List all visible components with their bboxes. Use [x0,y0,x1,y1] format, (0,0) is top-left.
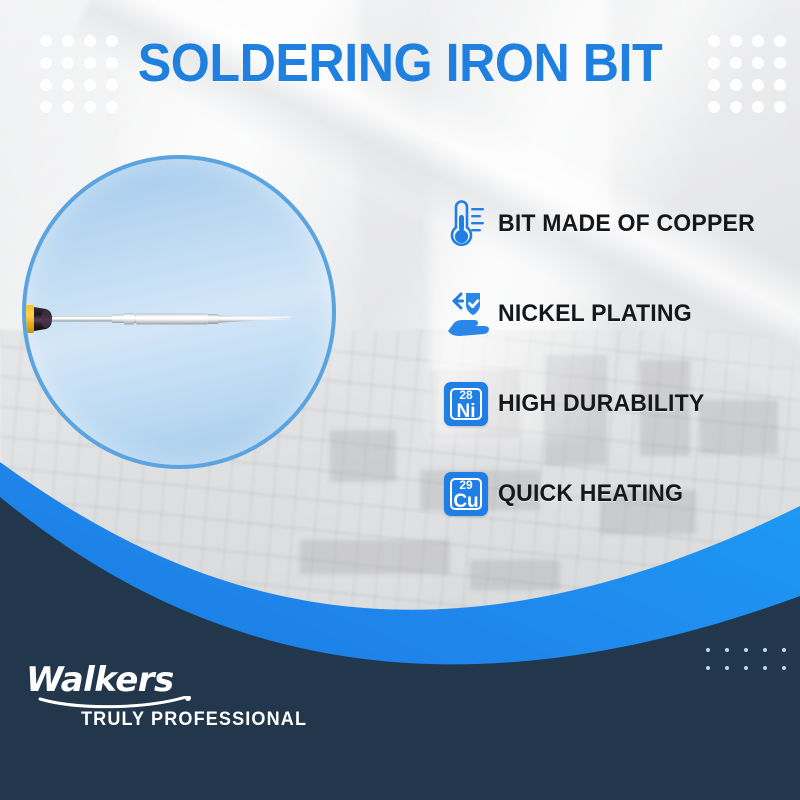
wave-dot-grid-icon [706,648,800,670]
feature-item: 28 Ni HIGH DURABILITY [444,376,774,432]
feature-label: QUICK HEATING [498,480,683,508]
element-tile: 28 Ni [444,382,488,426]
thermometer-icon [444,199,498,249]
brand-logo: Walkers TRULY PROFESSIONAL [26,662,326,731]
feature-item: BIT MADE OF COPPER [444,196,774,252]
brand-tagline: TRULY PROFESSIONAL [81,709,314,731]
soldering-iron-bit-image [22,302,332,336]
product-infographic: SOLDERING IRON BIT [0,0,800,800]
background-chip [330,430,396,482]
element-number: 29 [444,479,488,491]
feature-item: 29 Cu QUICK HEATING [444,466,774,522]
product-image-circle [22,155,336,469]
background-chip [300,540,450,574]
page-title: SOLDERING IRON BIT [28,34,772,92]
element-symbol: Cu [444,492,488,511]
element-number: 28 [444,389,488,401]
feature-item: NICKEL PLATING [444,286,774,342]
background-chip [470,560,560,590]
brand-name: Walkers [26,662,326,698]
swoosh-icon [38,696,193,710]
element-tile: 29 Cu [444,472,488,516]
element-symbol: Ni [444,402,488,421]
feature-label: BIT MADE OF COPPER [498,210,755,238]
feature-label: NICKEL PLATING [498,300,692,328]
hand-shield-check-icon [444,289,498,339]
element-tile-copper-icon: 29 Cu [444,472,498,516]
feature-label: HIGH DURABILITY [498,390,704,418]
element-tile-nickel-icon: 28 Ni [444,382,498,426]
feature-list: BIT MADE OF COPPER NICKEL PLATING 28 [444,196,774,556]
